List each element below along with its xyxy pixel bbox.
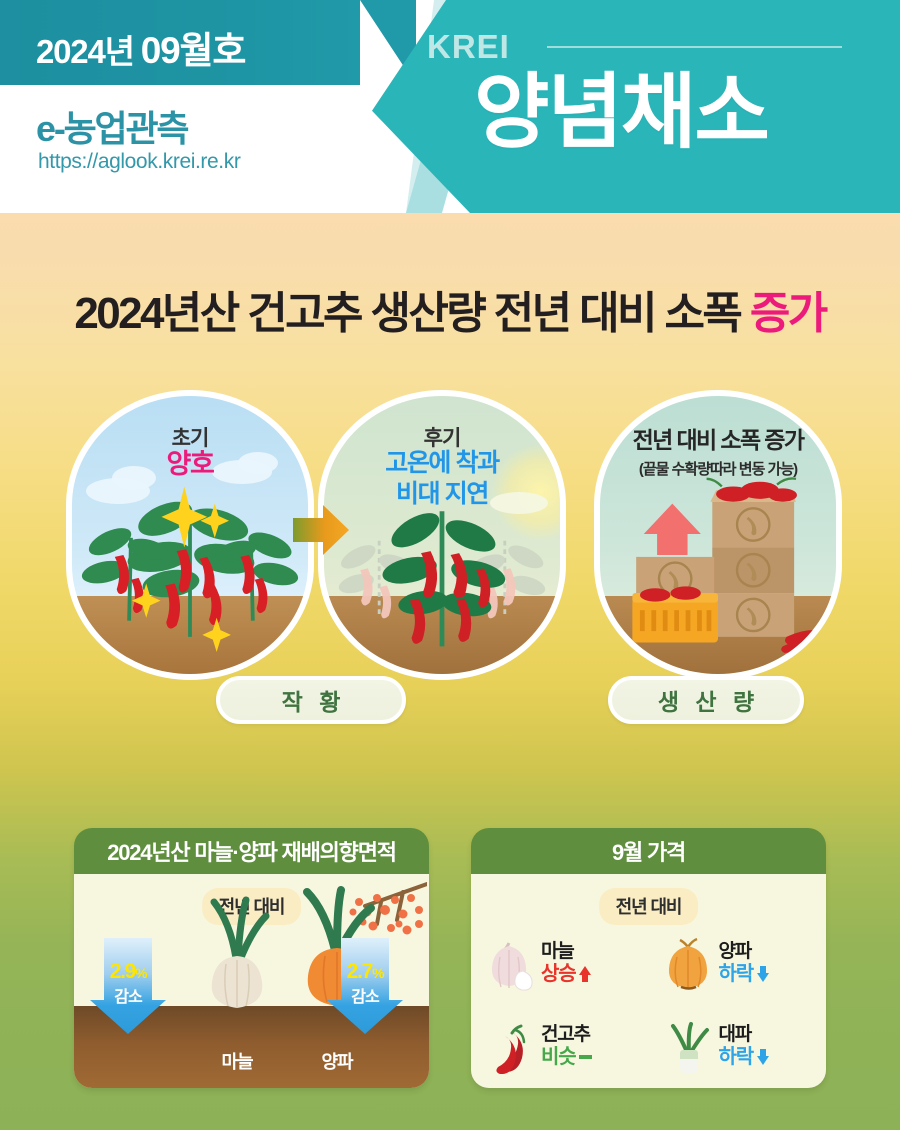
price-trend-garlic: 상승 <box>541 962 591 986</box>
header-rule <box>547 46 842 48</box>
card-early-stage: 초기 양호 <box>66 390 314 680</box>
arrow-down-icon <box>757 1049 769 1065</box>
arrow-up-icon <box>579 966 591 982</box>
price-grid: 마늘 상승 <box>471 922 826 1088</box>
arrow-down-icon <box>757 966 769 982</box>
badge-yoy-price: 전년 대비 <box>599 888 699 925</box>
panel-cultivation-area: 2024년산 마늘·양파 재배의향면적 전년 대비 <box>74 828 429 1088</box>
dir-garlic: 감소 <box>90 983 166 1007</box>
onion-icon <box>663 937 713 991</box>
garlic-illustration <box>194 894 280 1014</box>
card-note-production: (끝물 수확량따라 변동 가능) <box>600 458 836 479</box>
card-late-stage: 후기 고온에 착과비대 지연 <box>318 390 566 680</box>
crop-name-onion: 양파 <box>292 1048 382 1074</box>
panel-price: 9월 가격 전년 대비 <box>471 828 826 1088</box>
arrow-right-icon <box>293 503 349 557</box>
pct-onion: 2.7% <box>327 960 403 984</box>
pct-garlic: 2.9% <box>90 960 166 984</box>
panel-body-cultivation: 전년 대비 <box>74 874 429 1088</box>
header-title: 양념채소 <box>474 72 768 154</box>
decrease-arrow-onion: 2.7% 감소 <box>327 938 403 1034</box>
garlic-icon <box>485 937 535 991</box>
panel-title-price: 9월 가격 <box>471 828 826 874</box>
price-name-garlic: 마늘 <box>541 941 591 963</box>
dried-chili-icon <box>485 1020 535 1074</box>
page-header: 2024년09월호 e-농업관측 https://aglook.krei.re.… <box>0 0 900 213</box>
brand-title: e-농업관측 <box>36 100 187 152</box>
issue-month: 09월호 <box>141 30 245 71</box>
panel-body-price: 전년 대비 마늘 <box>471 874 826 1088</box>
decrease-arrow-garlic: 2.9% 감소 <box>90 938 166 1034</box>
dir-onion: 감소 <box>327 983 403 1007</box>
label-production: 생 산 량 <box>608 676 804 724</box>
price-row-onion: 양파 하락 <box>649 922 827 1005</box>
label-crop-condition: 작 황 <box>216 676 406 724</box>
price-row-garlic: 마늘 상승 <box>471 922 649 1005</box>
card-status-early: 양호 <box>72 448 308 482</box>
issue-year: 2024년 <box>36 33 134 70</box>
card-status-production: 전년 대비 소폭 증가 <box>600 426 836 455</box>
headline-accent: 증가 <box>750 289 826 338</box>
price-trend-green-onion: 하락 <box>719 1045 769 1069</box>
card-production: 전년 대비 소폭 증가 (끝물 수확량따라 변동 가능) <box>594 390 842 680</box>
brand-url[interactable]: https://aglook.krei.re.kr <box>38 150 240 174</box>
headline-main: 2024년산 건고추 생산량 전년 대비 소폭 <box>74 289 750 338</box>
panel-title-cultivation: 2024년산 마늘·양파 재배의향면적 <box>74 828 429 874</box>
card-status-late: 고온에 착과비대 지연 <box>324 448 560 511</box>
flat-dash-icon <box>579 1055 592 1059</box>
krei-logo: KREI <box>427 28 510 66</box>
price-row-dried-chili: 건고추 비슷 <box>471 1005 649 1088</box>
green-onion-icon <box>663 1020 713 1074</box>
price-name-dried-chili: 건고추 <box>541 1024 592 1046</box>
price-row-green-onion: 대파 하락 <box>649 1005 827 1088</box>
page-headline: 2024년산 건고추 생산량 전년 대비 소폭 증가 <box>0 277 900 341</box>
issue-date: 2024년09월호 <box>36 20 245 74</box>
price-trend-dried-chili: 비슷 <box>541 1045 592 1069</box>
price-name-green-onion: 대파 <box>719 1024 769 1046</box>
price-name-onion: 양파 <box>719 941 769 963</box>
infographic-page: 2024년09월호 e-농업관측 https://aglook.krei.re.… <box>0 0 900 1130</box>
crop-name-garlic: 마늘 <box>192 1048 282 1074</box>
price-trend-onion: 하락 <box>719 962 769 986</box>
